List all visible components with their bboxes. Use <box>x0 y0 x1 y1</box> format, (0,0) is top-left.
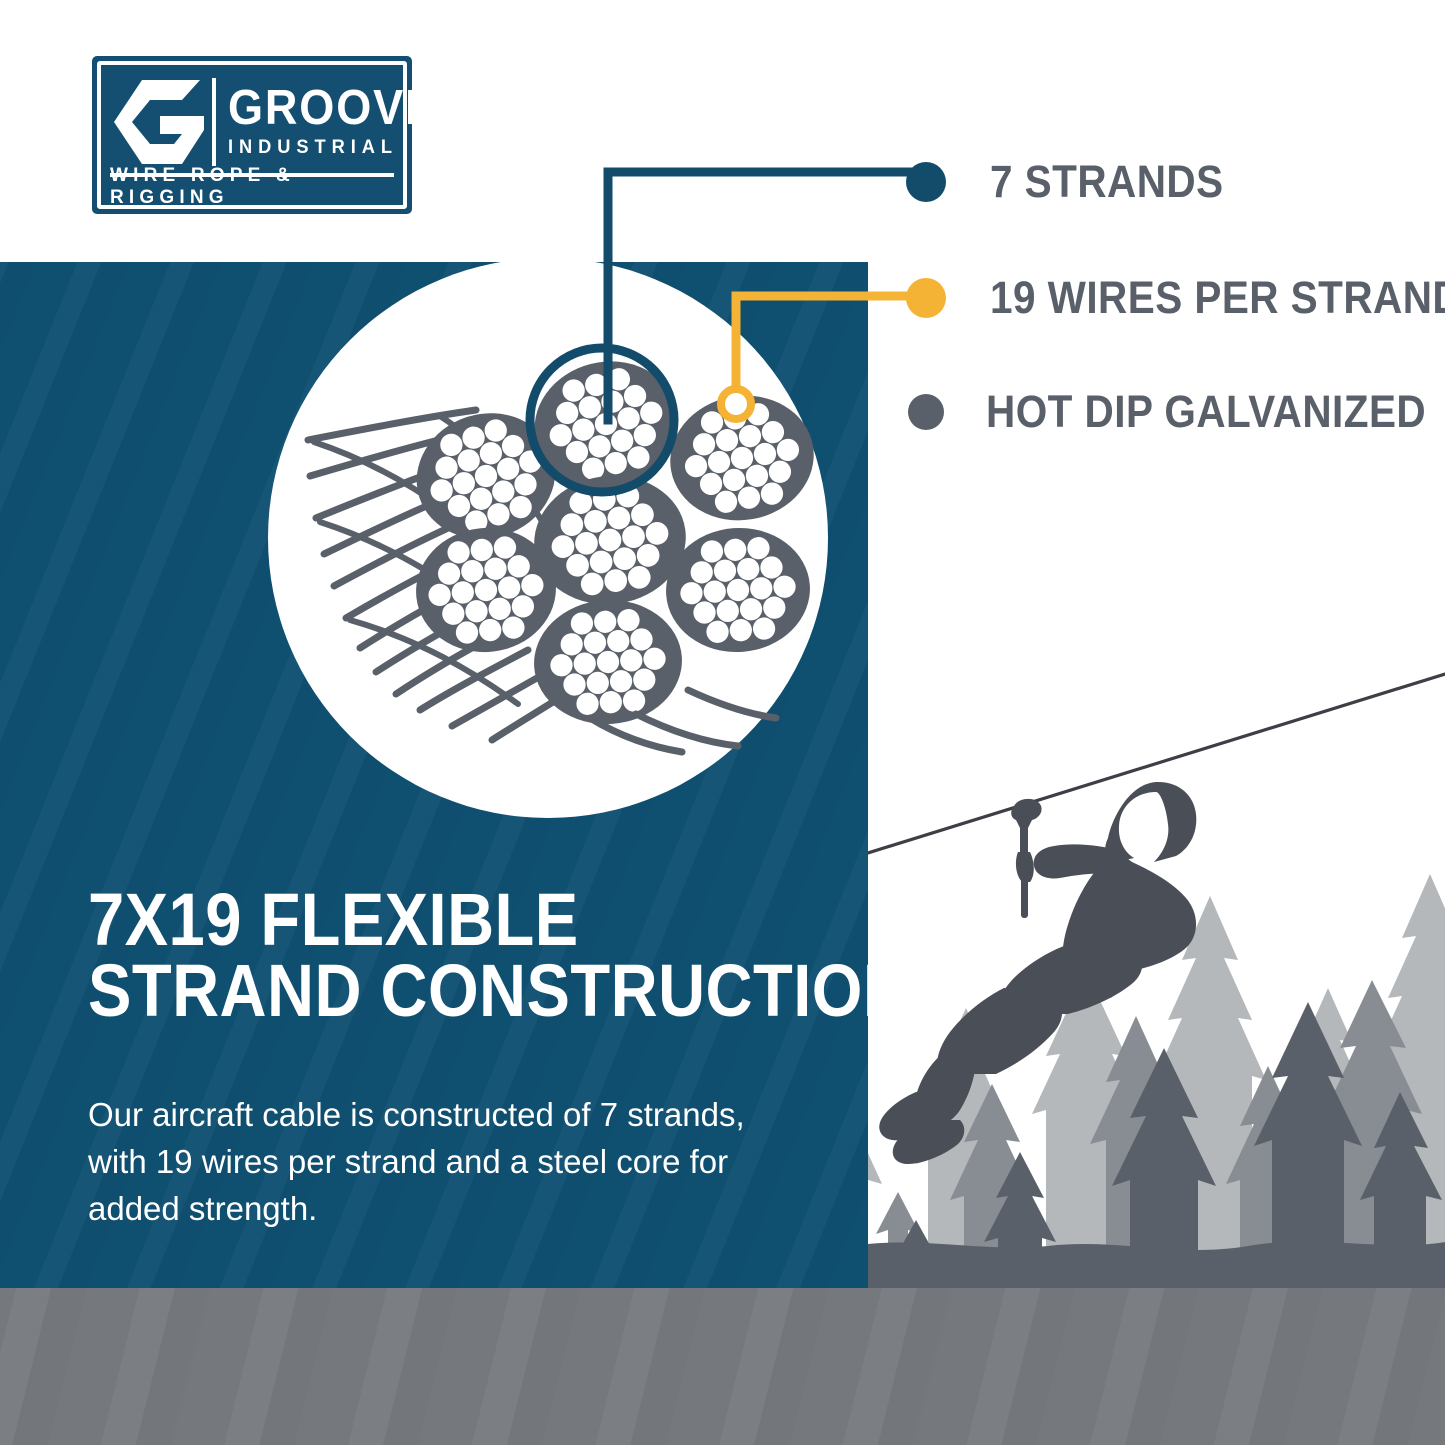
logo-wordmark: GROOVE INDUSTRIAL <box>224 85 455 158</box>
bottom-accent-bar <box>0 1288 1445 1445</box>
logo-top-band: GROOVE INDUSTRIAL <box>110 74 394 170</box>
logo-tagline-text: WIRE ROPE & RIGGING <box>110 177 394 196</box>
callout-marker-dot <box>908 394 944 430</box>
bottom-bar-stripe-texture <box>0 1288 1445 1445</box>
single-wire-marker-ring <box>714 382 758 426</box>
callout-7-strands: 7 STRANDS <box>906 156 1250 208</box>
logo-divider <box>212 78 216 166</box>
logo-subbrand-text: INDUSTRIAL <box>228 137 446 159</box>
headline-line-2: STRAND CONSTRUCTION <box>88 955 739 1026</box>
callout-marker-dot <box>906 278 946 318</box>
logo-brand-text: GROOVE <box>228 85 437 131</box>
callout-19-wires-per-strand: 19 WIRES PER STRAND <box>906 272 1445 324</box>
headline-line-1: 7X19 FLEXIBLE <box>88 884 739 955</box>
body-description-text: Our aircraft cable is constructed of 7 s… <box>88 1092 748 1233</box>
infographic-canvas: GROOVE INDUSTRIAL WIRE ROPE & RIGGING <box>0 0 1445 1445</box>
callout-label: HOT DIP GALVANIZED <box>986 386 1426 438</box>
brand-logo: GROOVE INDUSTRIAL WIRE ROPE & RIGGING <box>92 56 412 214</box>
callout-label: 7 STRANDS <box>990 156 1224 208</box>
groove-g-hexagon-icon <box>110 76 210 168</box>
logo-inner-frame: GROOVE INDUSTRIAL WIRE ROPE & RIGGING <box>97 61 407 209</box>
callout-hot-dip-galvanized: HOT DIP GALVANIZED <box>906 386 1445 438</box>
callout-marker-dot <box>906 162 946 202</box>
headline-block: 7X19 FLEXIBLE STRAND CONSTRUCTION <box>88 884 828 1026</box>
zipline-forest-scene <box>868 640 1445 1288</box>
callout-label: 19 WIRES PER STRAND <box>990 272 1445 324</box>
